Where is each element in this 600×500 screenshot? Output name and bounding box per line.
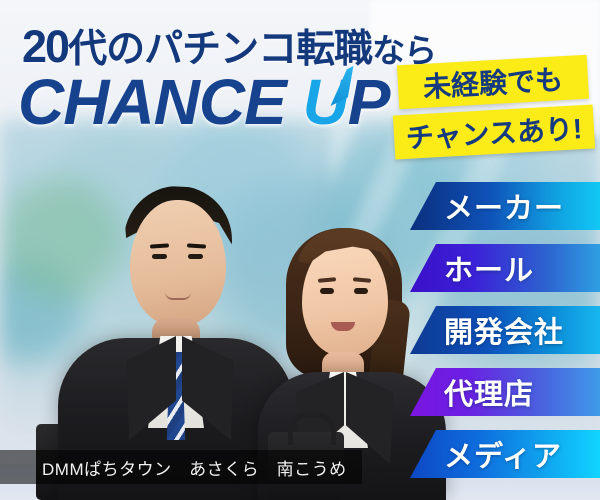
headline-age-number: 20 bbox=[22, 21, 68, 72]
credit-text: DMMぱちタウン あさくら 南こうめ bbox=[0, 455, 347, 480]
category-badge-media[interactable]: メディア bbox=[410, 430, 600, 478]
man-eye-right bbox=[188, 254, 203, 259]
headline-u-letter: U bbox=[303, 70, 348, 134]
category-badge-agency[interactable]: 代理店 bbox=[410, 368, 600, 416]
headline-chance-text: CHANCE bbox=[18, 66, 303, 138]
category-badge-development-company[interactable]: 開発会社 bbox=[410, 306, 600, 354]
category-badge-hall[interactable]: ホール bbox=[410, 244, 600, 292]
ribbon-no-experience-label: 未経験でも bbox=[422, 58, 564, 106]
category-badge-development-company-label: 開発会社 bbox=[410, 309, 564, 351]
briefcase-right-handle bbox=[288, 412, 336, 445]
category-badge-media-label: メディア bbox=[410, 433, 562, 475]
headline-u-glyph: U bbox=[303, 66, 348, 138]
headline-primary-body: 代のパチンコ転職 bbox=[68, 28, 372, 71]
headline-chance-up: CHANCE UP bbox=[18, 70, 389, 134]
man-eye-left bbox=[152, 254, 167, 259]
advertisement-banner[interactable]: 20代のパチンコ転職なら CHANCE UP 未経験でも チャンスあり! メーカ… bbox=[0, 0, 600, 500]
category-badge-maker-label: メーカー bbox=[410, 185, 564, 227]
woman-eye-left bbox=[320, 288, 334, 294]
headline-p-letter: P bbox=[348, 66, 390, 138]
category-badge-maker[interactable]: メーカー bbox=[410, 182, 600, 230]
woman-eye-right bbox=[354, 288, 368, 294]
credit-bar: DMMぱちタウン あさくら 南こうめ bbox=[0, 450, 362, 484]
man-face bbox=[130, 200, 226, 326]
ribbon-chance-available-label: チャンスあり! bbox=[405, 107, 583, 157]
man-mouth bbox=[165, 292, 191, 300]
